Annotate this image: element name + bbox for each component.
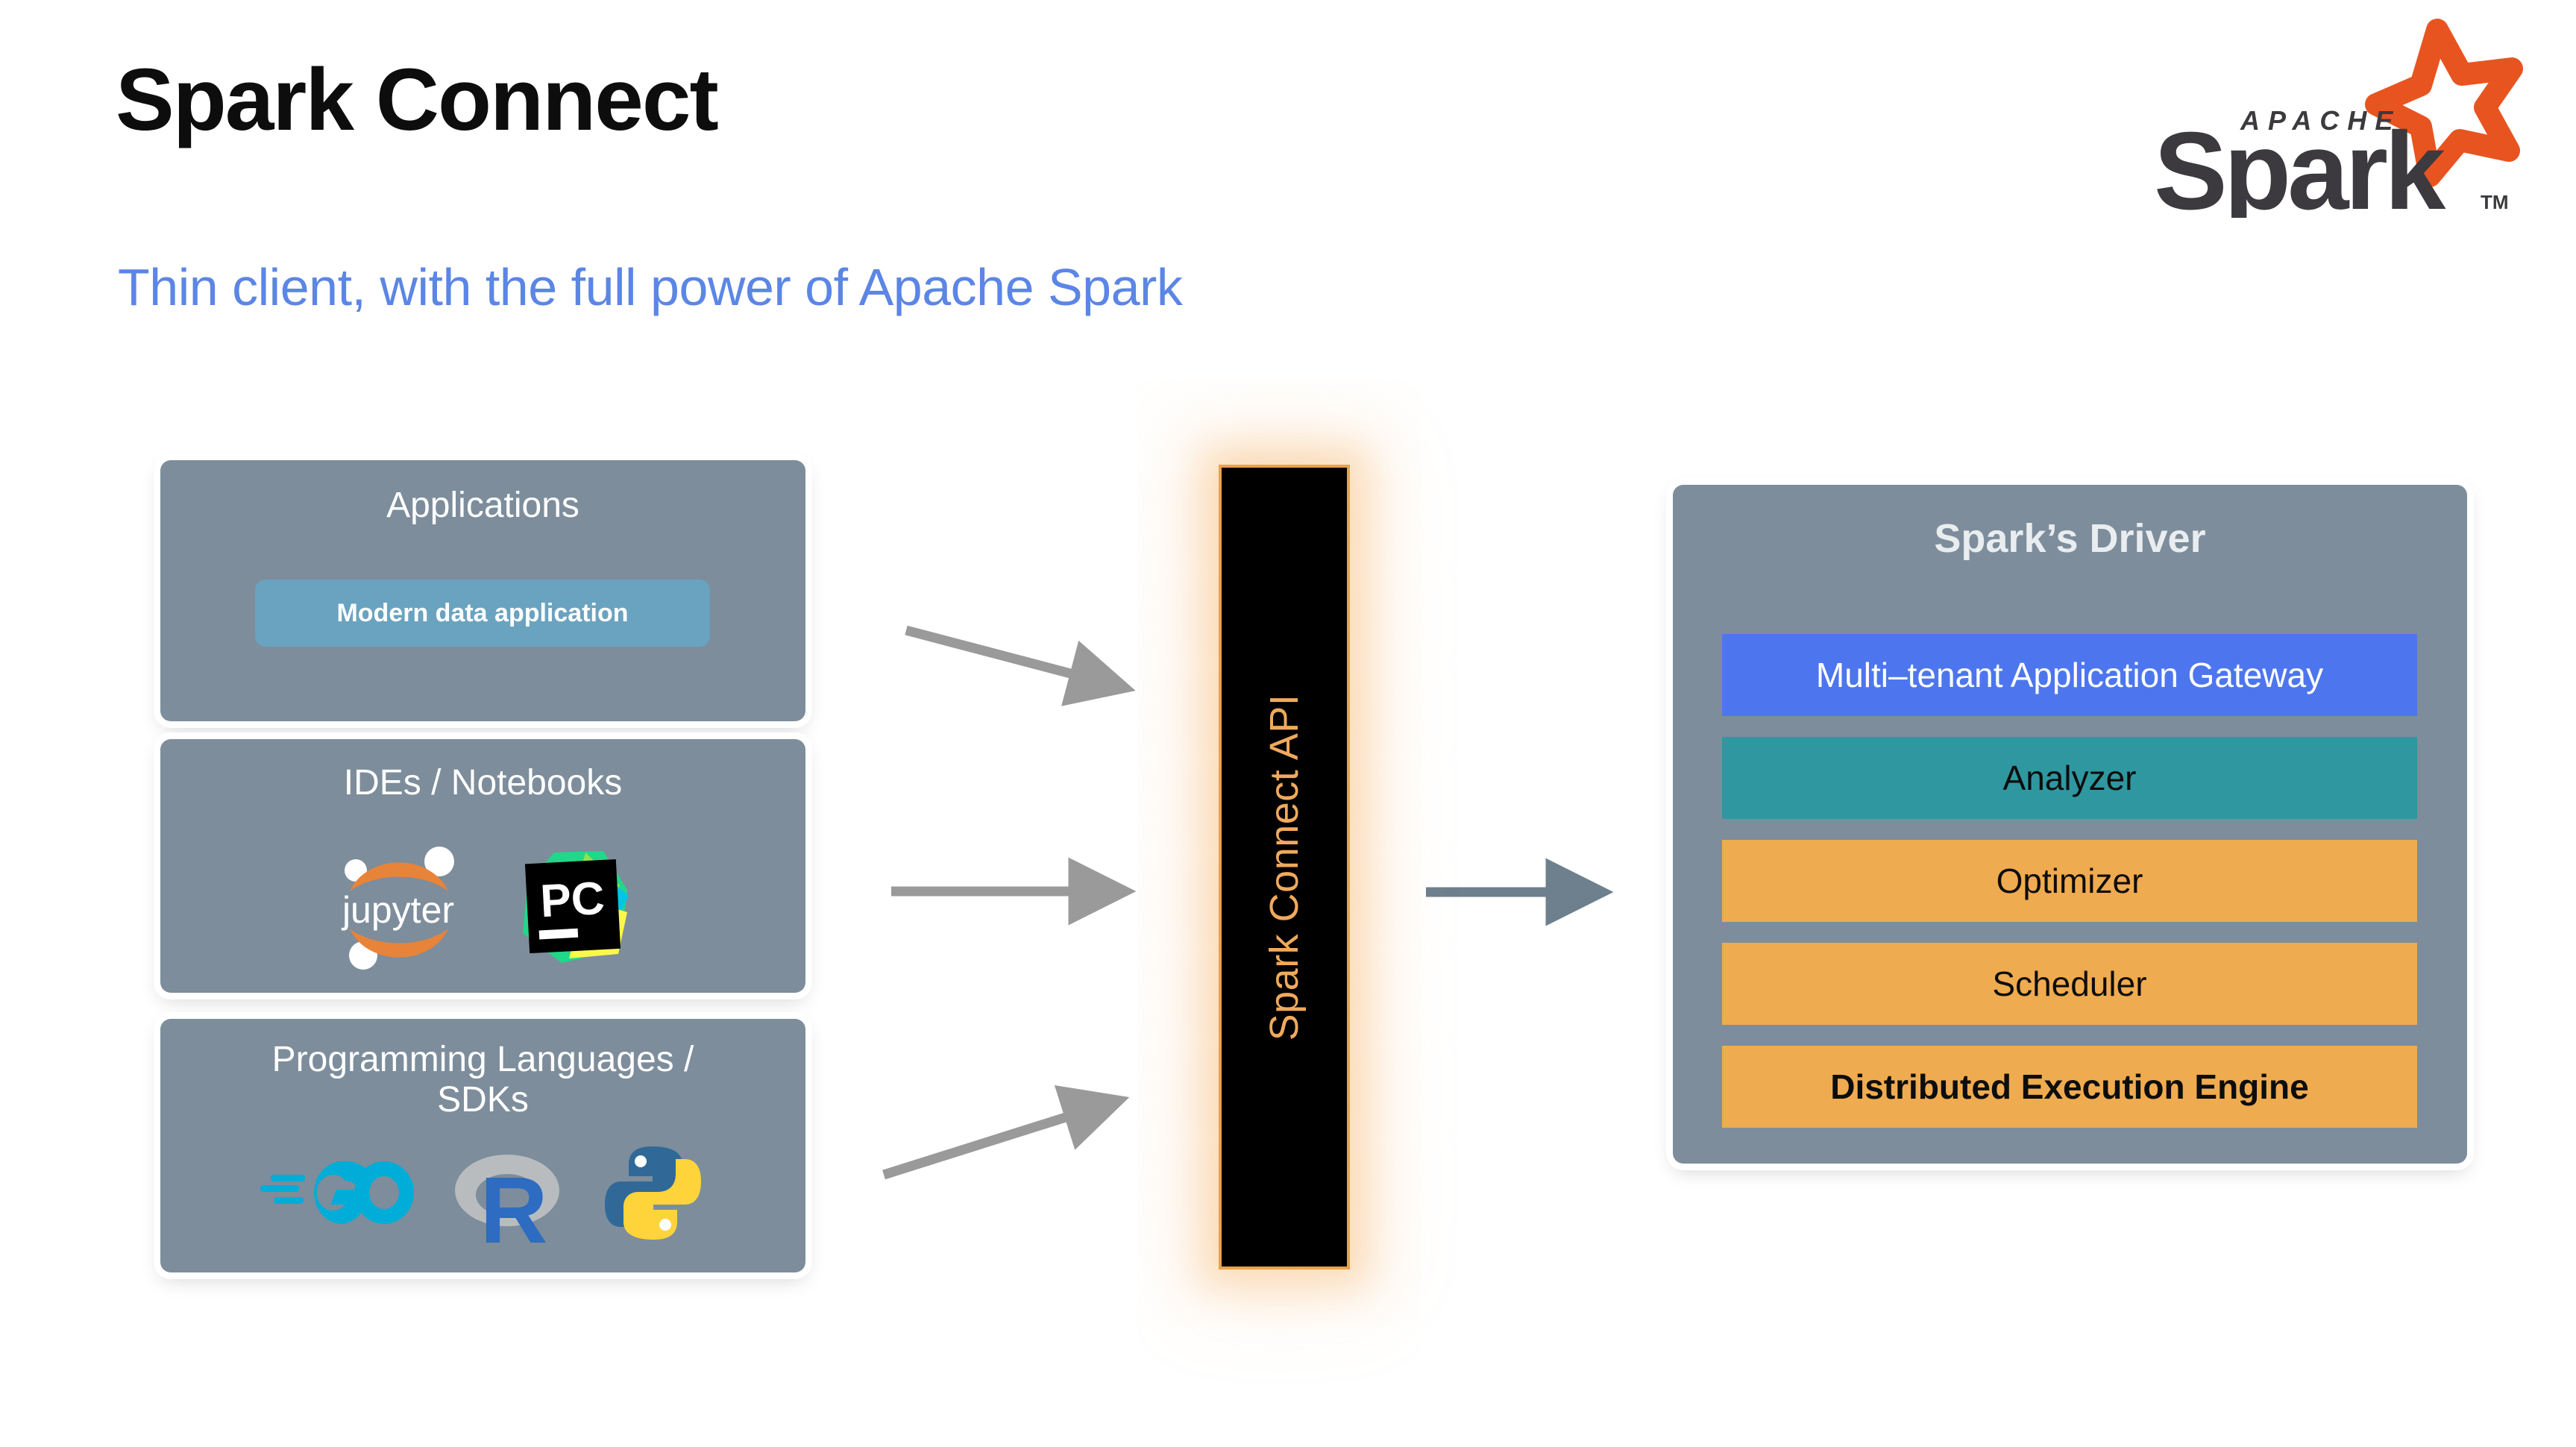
language-logo-row: R (160, 1137, 805, 1252)
card-ides-title: IDEs / Notebooks (160, 763, 805, 803)
driver-row-analyzer[interactable]: Analyzer (1722, 737, 2417, 819)
card-languages-title-line2: SDKs (160, 1080, 805, 1120)
card-applications[interactable]: Applications Modern data application (160, 460, 805, 721)
modern-data-application-pill[interactable]: Modern data application (255, 580, 710, 647)
arrow-applications-to-api (906, 630, 1119, 686)
page-subtitle: Thin client, with the full power of Apac… (118, 261, 1182, 313)
card-driver-title: Spark’s Driver (1673, 516, 2467, 561)
svg-text:R: R (480, 1158, 548, 1249)
driver-row-multi-tenant-application-gateway[interactable]: Multi–tenant Application Gateway (1722, 634, 2417, 716)
spark-connect-api-label: Spark Connect API (1261, 694, 1307, 1040)
arrow-languages-to-api (884, 1102, 1113, 1175)
ide-logo-row: jupyter PC (160, 835, 805, 980)
card-ides-notebooks[interactable]: IDEs / Notebooks jupyter (160, 739, 805, 993)
svg-text:jupyter: jupyter (341, 889, 454, 931)
card-languages-sdks[interactable]: Programming Languages / SDKs R (160, 1019, 805, 1272)
spark-connect-api-bar[interactable]: Spark Connect API (1219, 465, 1350, 1269)
jupyter-logo: jupyter (327, 835, 469, 980)
r-logo: R (451, 1137, 563, 1252)
card-languages-title-line1: Programming Languages / (160, 1040, 805, 1080)
pycharm-logo: PC (508, 841, 638, 975)
card-applications-title: Applications (160, 486, 805, 526)
driver-row-scheduler[interactable]: Scheduler (1722, 943, 2417, 1025)
go-logo (259, 1148, 415, 1241)
driver-row-distributed-execution-engine[interactable]: Distributed Execution Engine (1722, 1046, 2417, 1128)
svg-text:TM: TM (2481, 191, 2509, 213)
card-languages-title: Programming Languages / SDKs (160, 1040, 805, 1120)
svg-text:Spark: Spark (2154, 110, 2446, 218)
page-title: Spark Connect (116, 56, 717, 144)
driver-row-optimizer[interactable]: Optimizer (1722, 840, 2417, 922)
python-logo (599, 1139, 707, 1251)
apache-spark-logo: APACHE Spark TM (2136, 16, 2524, 218)
card-spark-driver[interactable]: Spark’s Driver Multi–tenant Application … (1673, 485, 2467, 1164)
svg-text:PC: PC (539, 872, 606, 926)
